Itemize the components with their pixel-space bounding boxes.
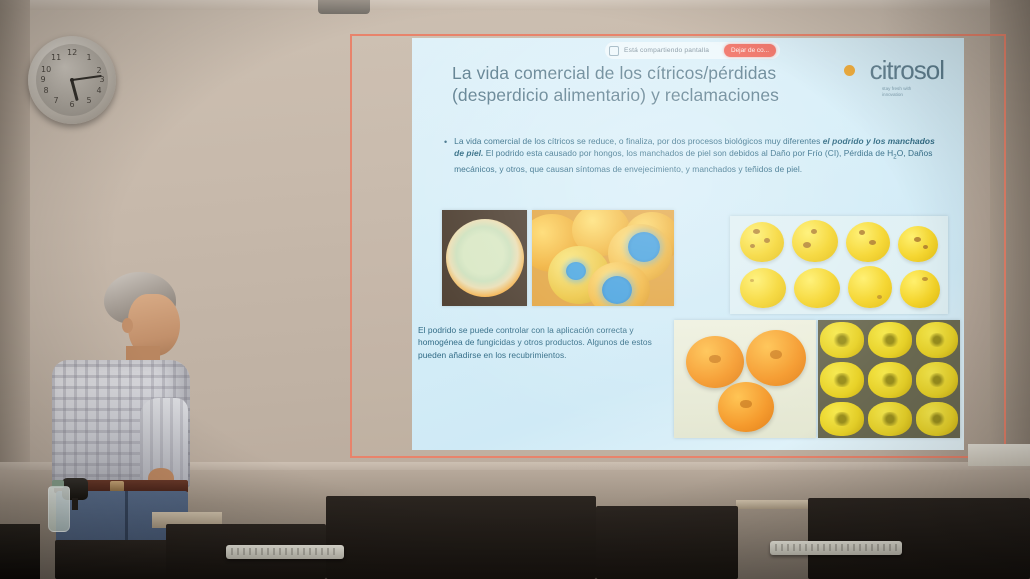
- ceiling-fixture: [318, 0, 370, 14]
- lemon: [792, 220, 838, 262]
- clock-numeral: 1: [84, 53, 94, 63]
- presenter-ear: [122, 318, 133, 333]
- citrosol-dot-icon: [844, 65, 855, 76]
- tagline-line-2: innovation: [882, 92, 903, 97]
- citrus-cell: [868, 362, 912, 398]
- citrosol-tagline: stay fresh with innovation: [882, 86, 942, 98]
- citrus-cell: [820, 402, 864, 436]
- clock-numeral: 8: [41, 86, 51, 96]
- clock-numeral: 10: [41, 65, 51, 75]
- lemon: [740, 268, 786, 308]
- desk-ledge: [736, 500, 814, 509]
- photo-lemon-grid-damage: [730, 216, 948, 314]
- body-part-1: La vida comercial de los cítricos se red…: [454, 136, 823, 146]
- clock-numeral: 12: [67, 48, 77, 58]
- desk-surface-left: [0, 524, 40, 579]
- photo-green-mold-orange: [442, 210, 527, 306]
- clock-face: 12 1 2 3 4 5 6 7 8 9 10 11: [36, 44, 108, 116]
- photo-blue-mold-citrus: [532, 210, 674, 306]
- citrus-cell: [820, 322, 864, 358]
- monitor-back: [326, 496, 596, 579]
- mandarin: [718, 382, 774, 432]
- keyboard[interactable]: [226, 545, 344, 559]
- clock-numeral: 6: [67, 100, 77, 110]
- presentation-slide: Está compartiendo pantalla Dejar de co..…: [412, 38, 964, 450]
- citrosol-mark-icon: [835, 55, 865, 85]
- citrus-cell: [868, 402, 912, 436]
- photo-mandarins: [674, 320, 816, 438]
- citrus-cell: [916, 402, 958, 436]
- lemon: [898, 226, 938, 262]
- monitor-back: [808, 498, 1030, 579]
- clock-numeral: 4: [94, 86, 104, 96]
- lemon: [846, 222, 890, 262]
- citrus-cell: [916, 322, 958, 358]
- photo-citrus-dense-grid: [818, 320, 960, 438]
- monitor-back: [596, 506, 738, 579]
- webcam-stand: [72, 498, 78, 510]
- citrosol-logo: citrosol stay fresh with innovation: [835, 55, 944, 85]
- keyboard[interactable]: [770, 541, 902, 555]
- slide-body-text: La vida comercial de los cítricos se red…: [454, 136, 936, 175]
- slide-title: La vida comercial de los cítricos/pérdid…: [452, 62, 782, 106]
- blue-mold-lesion: [628, 232, 660, 262]
- citrosol-wordmark: citrosol: [870, 57, 944, 83]
- blue-mold-lesion: [602, 276, 632, 304]
- mandarin: [686, 336, 744, 388]
- citrus-cell: [820, 362, 864, 398]
- mandarin: [746, 330, 806, 386]
- clock-numeral: 5: [84, 96, 94, 106]
- tagline-line-1: stay fresh with: [882, 86, 911, 91]
- lemon: [900, 270, 940, 308]
- stop-sharing-button[interactable]: Dejar de co...: [724, 44, 776, 57]
- body-part-2: El podrido esta causado por hongos, los …: [483, 148, 893, 158]
- clock-center-pin: [70, 78, 74, 82]
- whiteboard: [968, 444, 1030, 466]
- clock-numeral: 11: [51, 53, 61, 63]
- lemon: [740, 222, 784, 262]
- lemon: [848, 266, 892, 308]
- ceiling-strip: [0, 0, 1030, 10]
- slide-caption: El podrido se puede controlar con la apl…: [418, 324, 658, 361]
- wall-clock: 12 1 2 3 4 5 6 7 8 9 10 11: [28, 36, 116, 124]
- clock-hour-hand: [71, 80, 79, 101]
- blue-mold-lesion: [566, 262, 586, 280]
- screen-share-banner: Está compartiendo pantalla Dejar de co..…: [605, 42, 780, 59]
- clock-numeral: 7: [51, 96, 61, 106]
- citrus-cell: [916, 362, 958, 398]
- water-bottle: [48, 486, 70, 532]
- wall-left-shadow: [0, 0, 30, 470]
- lemon: [794, 268, 840, 308]
- slide-bullet: • La vida comercial de los cítricos se r…: [444, 136, 936, 175]
- bullet-marker: •: [444, 136, 447, 175]
- classroom-presentation-scene: 12 1 2 3 4 5 6 7 8 9 10 11 Está comparti…: [0, 0, 1030, 579]
- citrus-cell: [868, 322, 912, 358]
- screen-share-icon: [609, 46, 619, 56]
- clock-numeral: 9: [38, 75, 48, 85]
- moldy-orange-shape: [446, 219, 524, 297]
- screen-share-status: Está compartiendo pantalla: [624, 47, 719, 54]
